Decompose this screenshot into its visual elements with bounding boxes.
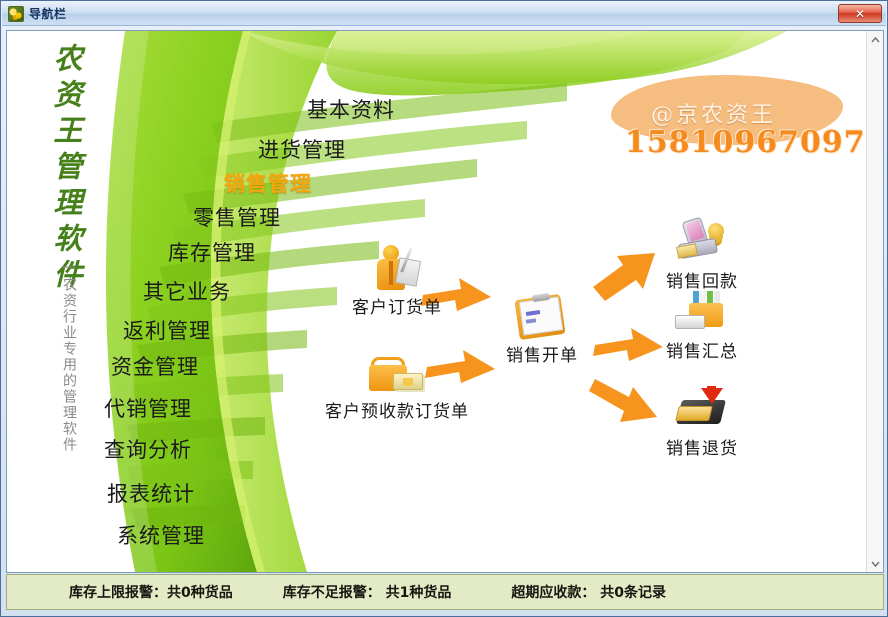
status-bar: 库存上限报警：共0种货品 库存不足报警： 共1种货品 超期应收款： 共0条记录 xyxy=(6,574,884,610)
phone-card-icon xyxy=(675,219,729,265)
flow-node-customer-prepaid-order[interactable]: 客户预收款订货单 xyxy=(307,351,487,422)
flow-node-label: 销售开单 xyxy=(487,341,597,366)
menu-item-consignment[interactable]: 代销管理 xyxy=(104,393,192,423)
chevron-up-icon xyxy=(871,37,880,43)
brand-subtitle: —农资行业专用的管理软件 xyxy=(59,259,79,453)
vertical-scrollbar[interactable] xyxy=(866,31,883,572)
scroll-track[interactable] xyxy=(867,48,883,555)
menu-item-funds[interactable]: 资金管理 xyxy=(111,351,199,381)
app-icon xyxy=(8,6,24,22)
menu-item-purchase[interactable]: 进货管理 xyxy=(258,134,346,164)
flow-node-label: 销售退货 xyxy=(637,434,767,459)
file-box-icon xyxy=(675,289,729,335)
flow-node-label: 客户预收款订货单 xyxy=(307,397,487,422)
scroll-up-button[interactable] xyxy=(867,31,884,48)
status-stock-low-alarm: 库存不足报警： 共1种货品 xyxy=(283,582,452,602)
flow-node-sales-billing[interactable]: 销售开单 xyxy=(487,293,597,366)
status-stock-upper-alarm: 库存上限报警：共0种货品 xyxy=(69,582,233,602)
flow-node-customer-order[interactable]: 客户订货单 xyxy=(337,245,457,318)
close-icon: ✕ xyxy=(855,7,865,21)
status-overdue-receivable: 超期应收款： 共0条记录 xyxy=(511,582,666,602)
flow-node-sales-payment[interactable]: 销售回款 xyxy=(637,219,767,292)
person-order-icon xyxy=(371,245,423,291)
clipboard-icon xyxy=(515,293,569,339)
briefcase-money-icon xyxy=(369,351,425,395)
menu-item-basic-data[interactable]: 基本资料 xyxy=(307,94,395,124)
flow-node-label: 客户订货单 xyxy=(337,293,457,318)
menu-item-rebate[interactable]: 返利管理 xyxy=(123,315,211,345)
menu-item-system[interactable]: 系统管理 xyxy=(117,520,205,550)
scroll-down-button[interactable] xyxy=(867,555,884,572)
menu-item-other-business[interactable]: 其它业务 xyxy=(143,276,231,306)
menu-item-sales[interactable]: 销售管理 xyxy=(224,168,312,198)
brand-title: 农资王管理软件 xyxy=(25,43,87,295)
menu-item-query-analysis[interactable]: 查询分析 xyxy=(104,434,192,464)
flow-node-sales-return[interactable]: 销售退货 xyxy=(637,386,767,459)
flow-node-sales-summary[interactable]: 销售汇总 xyxy=(637,289,767,362)
card-return-icon xyxy=(675,386,729,432)
flow-node-label: 销售汇总 xyxy=(637,337,767,362)
client-area: 农资王管理软件 —农资行业专用的管理软件 基本资料 进货管理 销售管理 零售管理… xyxy=(6,30,884,573)
title-bar: 导航栏 ✕ xyxy=(2,2,886,26)
menu-item-retail[interactable]: 零售管理 xyxy=(193,202,281,232)
menu-item-reports[interactable]: 报表统计 xyxy=(107,478,195,508)
menu-item-inventory[interactable]: 库存管理 xyxy=(168,237,256,267)
chevron-down-icon xyxy=(871,561,880,567)
application-window: 导航栏 ✕ xyxy=(0,0,888,617)
close-button[interactable]: ✕ xyxy=(838,4,882,23)
window-title: 导航栏 xyxy=(29,5,67,22)
navigation-canvas: 农资王管理软件 —农资行业专用的管理软件 基本资料 进货管理 销售管理 零售管理… xyxy=(7,31,867,572)
